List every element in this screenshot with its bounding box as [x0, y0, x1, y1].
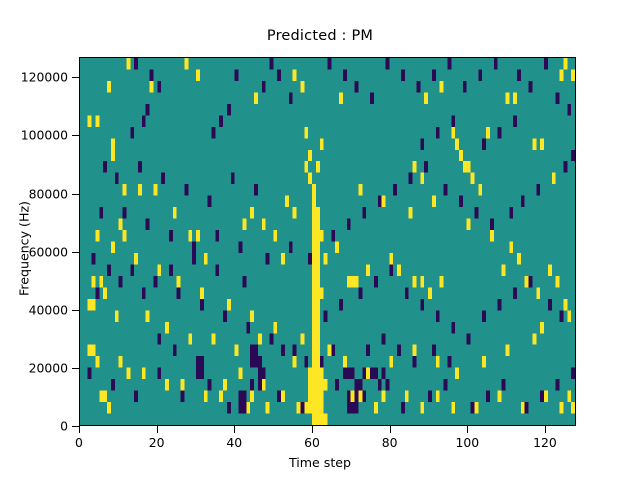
figure-canvas: Predicted : PM Time step Frequency (Hz) … [0, 0, 640, 480]
x-tick-mark [157, 426, 158, 433]
x-tick-label: 80 [382, 435, 398, 450]
x-tick-label: 60 [304, 435, 320, 450]
y-tick-mark [72, 252, 79, 253]
x-tick-label: 20 [149, 435, 165, 450]
x-axis-title: Time step [0, 455, 640, 470]
x-tick-mark [234, 426, 235, 433]
y-tick-mark [72, 194, 79, 195]
y-tick-mark [72, 77, 79, 78]
x-tick-mark [312, 426, 313, 433]
x-tick-mark [467, 426, 468, 433]
x-tick-label: 120 [533, 435, 557, 450]
y-tick-label: 60000 [2, 244, 68, 259]
y-tick-label: 100000 [2, 128, 68, 143]
x-tick-label: 40 [226, 435, 242, 450]
y-tick-label: 40000 [2, 302, 68, 317]
y-tick-label: 120000 [2, 70, 68, 85]
x-tick-label: 0 [75, 435, 83, 450]
heatmap-plot-area [79, 57, 576, 426]
chart-title: Predicted : PM [0, 28, 640, 44]
x-tick-label: 100 [455, 435, 479, 450]
heatmap-cells [80, 58, 575, 425]
y-tick-label: 80000 [2, 186, 68, 201]
y-tick-mark [72, 310, 79, 311]
y-tick-mark [72, 135, 79, 136]
y-tick-mark [72, 426, 79, 427]
x-tick-mark [390, 426, 391, 433]
x-tick-mark [545, 426, 546, 433]
y-tick-label: 20000 [2, 360, 68, 375]
y-tick-label: 0 [2, 419, 68, 434]
y-tick-mark [72, 368, 79, 369]
x-tick-mark [79, 426, 80, 433]
